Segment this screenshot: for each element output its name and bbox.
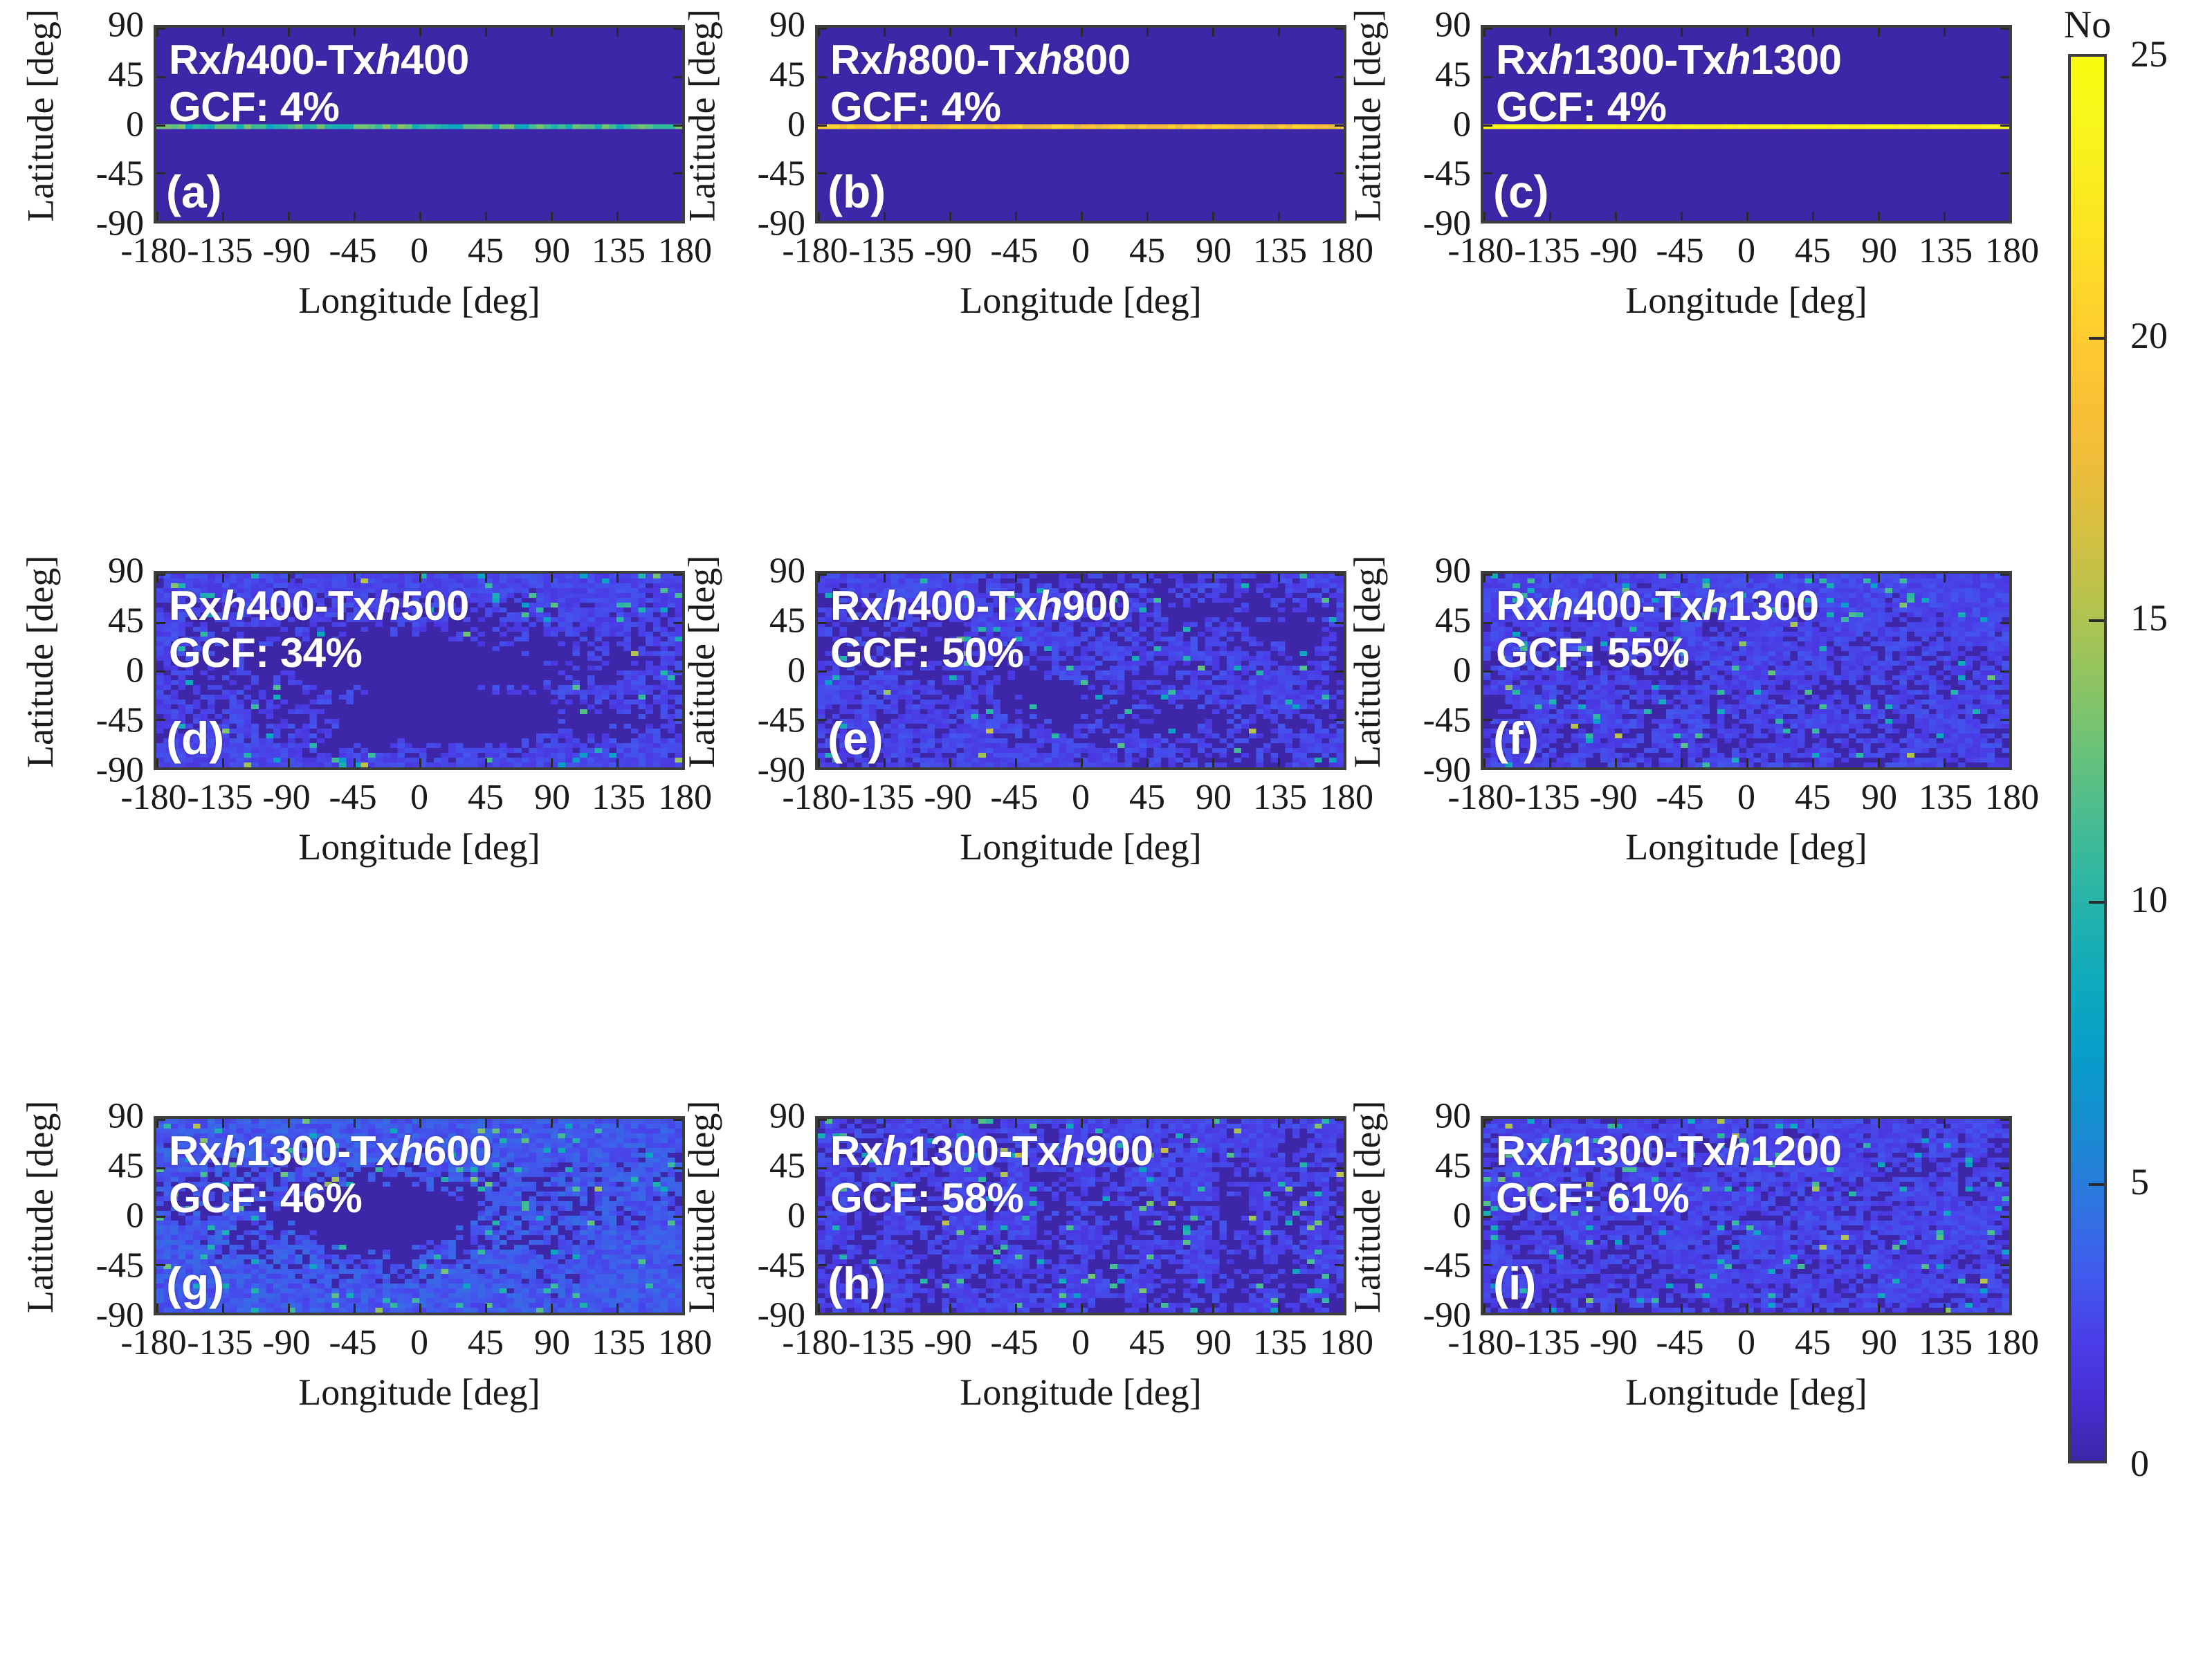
x-tick-mark <box>1278 758 1280 767</box>
y-tick-mark <box>1335 172 1344 174</box>
x-tick-label: 90 <box>1861 777 1897 818</box>
panel-title: Rxh1300-Txh600 <box>169 1127 492 1175</box>
x-tick-label: 0 <box>1072 777 1090 818</box>
panel-title: Rxh400-Txh900 <box>830 582 1131 630</box>
title-mid: 800-Tx <box>908 37 1037 83</box>
x-tick-mark <box>616 574 619 583</box>
gcf-label: GCF: <box>830 84 931 130</box>
y-tick-mark <box>156 1313 165 1315</box>
x-tick-mark <box>1278 1304 1280 1313</box>
panel-i: Rxh1300-Txh1200GCF: 61%(i)-180-135-90-45… <box>1481 1116 2012 1315</box>
x-tick-mark <box>1944 1119 1946 1128</box>
title-suffix: 1200 <box>1750 1128 1841 1174</box>
x-tick-mark <box>1681 758 1683 767</box>
y-tick-label: 0 <box>787 1196 805 1236</box>
title-prefix: Rx <box>1496 37 1548 83</box>
panel-letter: (e) <box>828 712 884 765</box>
panel-letter: (d) <box>166 712 224 765</box>
x-tick-mark <box>2009 1119 2011 1128</box>
x-tick-mark <box>419 1304 421 1313</box>
y-tick-mark <box>1483 28 1492 30</box>
title-h-italic: h <box>1548 583 1573 629</box>
y-tick-mark <box>2000 1313 2009 1315</box>
x-tick-mark <box>818 212 820 221</box>
x-tick-mark <box>1278 574 1280 583</box>
y-tick-label: 45 <box>1435 1146 1471 1187</box>
title-mid: 400-Tx <box>246 37 376 83</box>
title-suffix: 1300 <box>1728 583 1818 629</box>
y-tick-mark <box>1483 622 1492 624</box>
title-h-italic: h <box>221 37 246 83</box>
y-tick-mark <box>1483 221 1492 223</box>
title-h-italic: h <box>376 583 401 629</box>
x-tick-label: -90 <box>262 230 310 271</box>
x-tick-mark <box>1878 212 1880 221</box>
y-tick-label: -90 <box>1423 1295 1471 1336</box>
y-tick-label: -90 <box>96 1295 144 1336</box>
y-tick-mark <box>818 1216 827 1218</box>
x-tick-mark <box>354 758 356 767</box>
title-suffix: 400 <box>401 37 469 83</box>
x-axis-title: Longitude [deg] <box>1481 825 2012 868</box>
y-tick-label: -90 <box>1423 750 1471 791</box>
title-h-italic: h <box>221 1128 246 1174</box>
y-tick-mark <box>2000 670 2009 673</box>
x-axis-title: Longitude [deg] <box>1481 279 2012 322</box>
x-tick-mark <box>156 212 158 221</box>
y-tick-label: 0 <box>787 104 805 145</box>
x-tick-mark <box>1812 1304 1814 1313</box>
panel-b: Rxh800-Txh800GCF: 4%(b)-180-135-90-45045… <box>815 25 1346 223</box>
y-tick-mark <box>1483 1313 1492 1315</box>
gcf-label: GCF: <box>169 1175 269 1221</box>
x-tick-label: -135 <box>848 1322 914 1363</box>
y-tick-mark <box>1335 1119 1344 1121</box>
y-tick-mark <box>156 172 165 174</box>
gcf-label: GCF: <box>1496 84 1596 130</box>
colorbar-tick-label: 5 <box>2130 1160 2149 1203</box>
x-tick-label: -135 <box>187 230 253 271</box>
y-tick-mark <box>1483 1264 1492 1266</box>
y-axis-title: Latitude [deg] <box>680 23 723 221</box>
y-tick-mark <box>156 1264 165 1266</box>
x-axis-title: Longitude [deg] <box>815 1371 1346 1414</box>
y-tick-label: -90 <box>758 203 805 244</box>
y-axis-title: Latitude [deg] <box>1346 569 1389 768</box>
colorbar-tick-mark <box>2089 1183 2104 1186</box>
y-tick-label: -90 <box>758 750 805 791</box>
y-tick-mark <box>818 28 827 30</box>
colorbar-tick-label: 0 <box>2130 1442 2149 1485</box>
x-tick-label: -135 <box>1514 777 1580 818</box>
y-tick-mark <box>156 221 165 223</box>
x-tick-mark <box>1483 758 1486 767</box>
y-tick-mark <box>1483 670 1492 673</box>
y-axis-title: Latitude [deg] <box>19 23 62 221</box>
colorbar-tick-mark <box>2089 619 2104 622</box>
y-tick-label: 90 <box>1435 5 1471 46</box>
y-tick-mark <box>1483 1167 1492 1169</box>
x-axis-title: Longitude [deg] <box>154 1371 685 1414</box>
x-tick-label: 180 <box>1985 777 2039 818</box>
x-tick-label: 90 <box>1196 1322 1232 1363</box>
x-tick-label: -90 <box>1589 777 1637 818</box>
panel-c: Rxh1300-Txh1300GCF: 4%(c)-180-135-90-450… <box>1481 25 2012 223</box>
x-tick-mark <box>1812 212 1814 221</box>
x-tick-mark <box>616 1119 619 1128</box>
y-tick-label: 90 <box>769 5 805 46</box>
x-tick-mark <box>1146 212 1149 221</box>
x-tick-label: -135 <box>187 777 253 818</box>
x-tick-mark <box>1944 1304 1946 1313</box>
x-tick-mark <box>2009 212 2011 221</box>
y-tick-mark <box>156 1216 165 1218</box>
x-tick-mark <box>485 212 487 221</box>
title-h-italic: h <box>376 37 401 83</box>
gcf-annotation: GCF: 4% <box>169 83 340 131</box>
x-tick-label: 90 <box>534 1322 570 1363</box>
y-tick-mark <box>818 1264 827 1266</box>
x-tick-label: 0 <box>1072 230 1090 271</box>
x-tick-mark <box>1081 1304 1083 1313</box>
x-tick-label: 0 <box>1072 1322 1090 1363</box>
y-tick-label: -45 <box>96 154 144 194</box>
y-tick-mark <box>818 1167 827 1169</box>
x-tick-mark <box>2009 28 2011 37</box>
x-tick-label: 90 <box>1861 1322 1897 1363</box>
x-tick-mark <box>1015 1304 1017 1313</box>
y-tick-mark <box>156 1119 165 1121</box>
x-tick-label: 0 <box>410 230 428 271</box>
x-tick-mark <box>616 1304 619 1313</box>
x-tick-mark <box>949 758 951 767</box>
y-tick-label: 0 <box>1453 1196 1471 1236</box>
x-tick-mark <box>1746 212 1748 221</box>
y-tick-label: 45 <box>1435 601 1471 641</box>
x-axis-title: Longitude [deg] <box>154 279 685 322</box>
colorbar-tick-label: 10 <box>2130 878 2168 921</box>
panel-h: Rxh1300-Txh900GCF: 58%(h)-180-135-90-450… <box>815 1116 1346 1315</box>
y-tick-mark <box>2000 719 2009 721</box>
title-mid: 1300-Tx <box>246 1128 399 1174</box>
y-tick-label: -45 <box>96 1245 144 1286</box>
title-suffix: 800 <box>1062 37 1131 83</box>
y-tick-mark <box>818 1119 827 1121</box>
y-tick-mark <box>818 1313 827 1315</box>
x-tick-mark <box>884 758 886 767</box>
x-tick-mark <box>1278 212 1280 221</box>
x-tick-mark <box>288 1304 290 1313</box>
title-prefix: Rx <box>169 1128 221 1174</box>
gcf-value: 4% <box>942 84 1001 130</box>
y-tick-mark <box>2000 221 2009 223</box>
x-tick-label: -45 <box>329 1322 376 1363</box>
y-tick-mark <box>818 767 827 769</box>
x-tick-mark <box>1212 28 1214 37</box>
panel-d: Rxh400-Txh500GCF: 34%(d)-180-135-90-4504… <box>154 571 685 770</box>
title-h-italic: h <box>1703 583 1728 629</box>
panel-letter: (b) <box>828 165 886 218</box>
y-tick-label: 90 <box>1435 1096 1471 1137</box>
y-tick-mark <box>2000 767 2009 769</box>
gcf-annotation: GCF: 58% <box>830 1174 1023 1222</box>
x-tick-label: 135 <box>1919 1322 1973 1363</box>
y-tick-label: 0 <box>1453 650 1471 691</box>
title-prefix: Rx <box>1496 583 1548 629</box>
y-axis-title: Latitude [deg] <box>1346 1114 1389 1313</box>
x-tick-mark <box>1146 28 1149 37</box>
colorbar-tick-mark <box>2089 901 2104 904</box>
y-tick-mark <box>156 574 165 576</box>
title-h-italic: h <box>1548 1128 1573 1174</box>
x-tick-mark <box>156 1304 158 1313</box>
x-tick-mark <box>1878 1304 1880 1313</box>
y-tick-mark <box>1483 76 1492 78</box>
x-tick-label: -90 <box>924 777 971 818</box>
y-tick-mark <box>818 125 827 127</box>
title-suffix: 1300 <box>1750 37 1841 83</box>
y-tick-mark <box>1335 670 1344 673</box>
x-tick-label: 180 <box>1319 230 1373 271</box>
y-tick-mark <box>1483 719 1492 721</box>
x-tick-label: -135 <box>848 230 914 271</box>
gcf-label: GCF: <box>830 1175 931 1221</box>
x-tick-mark <box>616 28 619 37</box>
y-tick-mark <box>156 622 165 624</box>
panel-title: Rxh400-Txh400 <box>169 36 469 84</box>
y-tick-mark <box>818 76 827 78</box>
x-tick-label: -45 <box>990 1322 1038 1363</box>
y-tick-mark <box>818 574 827 576</box>
x-tick-mark <box>156 758 158 767</box>
x-tick-label: -135 <box>187 1322 253 1363</box>
title-suffix: 900 <box>1062 583 1131 629</box>
x-tick-mark <box>1681 1304 1683 1313</box>
x-tick-mark <box>1278 28 1280 37</box>
x-tick-mark <box>419 212 421 221</box>
x-tick-mark <box>1812 758 1814 767</box>
y-axis-title: Latitude [deg] <box>19 569 62 768</box>
title-prefix: Rx <box>830 1128 883 1174</box>
y-tick-label: 45 <box>108 1146 144 1187</box>
y-tick-mark <box>1335 125 1344 127</box>
x-tick-mark <box>551 758 553 767</box>
y-tick-mark <box>1335 622 1344 624</box>
gcf-value: 46% <box>280 1175 363 1221</box>
x-tick-mark <box>1483 212 1486 221</box>
panel-letter: (i) <box>1493 1257 1536 1310</box>
x-tick-label: 0 <box>410 777 428 818</box>
title-h-italic: h <box>1726 1128 1750 1174</box>
x-tick-label: -45 <box>1656 230 1703 271</box>
x-tick-mark <box>354 1304 356 1313</box>
x-tick-mark <box>1015 758 1017 767</box>
gcf-label: GCF: <box>830 630 931 676</box>
y-tick-mark <box>818 670 827 673</box>
y-tick-label: 0 <box>126 650 144 691</box>
x-tick-mark <box>1212 1119 1214 1128</box>
x-tick-mark <box>1878 574 1880 583</box>
y-tick-label: -45 <box>1423 700 1471 741</box>
y-tick-mark <box>1335 1216 1344 1218</box>
x-tick-mark <box>1549 212 1551 221</box>
x-tick-label: 135 <box>1919 777 1973 818</box>
x-tick-mark <box>551 212 553 221</box>
x-tick-mark <box>1615 758 1617 767</box>
y-axis-title: Latitude [deg] <box>680 1114 723 1313</box>
x-tick-mark <box>1615 1304 1617 1313</box>
x-tick-mark <box>1212 758 1214 767</box>
y-tick-mark <box>1483 574 1492 576</box>
x-tick-mark <box>1944 574 1946 583</box>
x-tick-label: -45 <box>329 230 376 271</box>
y-tick-label: 90 <box>769 1096 805 1137</box>
gcf-label: GCF: <box>169 84 269 130</box>
x-tick-label: 45 <box>1795 230 1831 271</box>
title-suffix: 500 <box>401 583 469 629</box>
x-tick-label: 135 <box>1253 1322 1307 1363</box>
x-tick-label: 135 <box>592 230 646 271</box>
panel-title: Rxh1300-Txh1200 <box>1496 1127 1841 1175</box>
y-tick-label: 45 <box>769 601 805 641</box>
y-tick-mark <box>2000 172 2009 174</box>
x-tick-label: 90 <box>534 230 570 271</box>
x-tick-label: -45 <box>1656 1322 1703 1363</box>
x-tick-label: 180 <box>658 777 712 818</box>
y-tick-mark <box>1483 1119 1492 1121</box>
x-tick-label: -135 <box>848 777 914 818</box>
x-tick-label: 135 <box>592 1322 646 1363</box>
x-tick-label: 135 <box>1919 230 1973 271</box>
x-tick-label: -135 <box>1514 230 1580 271</box>
x-tick-mark <box>1944 758 1946 767</box>
x-tick-label: 180 <box>658 1322 712 1363</box>
x-tick-mark <box>551 1304 553 1313</box>
panel-letter: (a) <box>166 165 222 218</box>
y-tick-mark <box>156 767 165 769</box>
x-tick-mark <box>1746 758 1748 767</box>
x-tick-label: -45 <box>990 230 1038 271</box>
x-tick-label: 180 <box>1319 777 1373 818</box>
x-tick-label: -90 <box>1589 1322 1637 1363</box>
panel-letter: (f) <box>1493 712 1539 765</box>
y-tick-mark <box>1335 1313 1344 1315</box>
gcf-value: 4% <box>280 84 340 130</box>
y-tick-label: -45 <box>96 700 144 741</box>
panel-letter: (h) <box>828 1257 886 1310</box>
y-tick-mark <box>2000 28 2009 30</box>
y-tick-mark <box>1483 172 1492 174</box>
x-tick-label: -45 <box>329 777 376 818</box>
x-tick-label: -90 <box>1589 230 1637 271</box>
y-tick-mark <box>2000 1264 2009 1266</box>
title-prefix: Rx <box>830 37 883 83</box>
y-tick-mark <box>1483 125 1492 127</box>
x-tick-mark <box>1549 758 1551 767</box>
title-mid: 1300-Tx <box>1573 1128 1726 1174</box>
title-h-italic: h <box>1726 37 1750 83</box>
y-tick-mark <box>1335 1167 1344 1169</box>
panel-letter: (c) <box>1493 165 1549 218</box>
x-tick-mark <box>1746 1304 1748 1313</box>
y-axis-title: Latitude [deg] <box>680 569 723 768</box>
title-h-italic: h <box>883 583 908 629</box>
y-tick-mark <box>1335 221 1344 223</box>
x-axis-title: Longitude [deg] <box>815 279 1346 322</box>
title-h-italic: h <box>221 583 246 629</box>
gcf-label: GCF: <box>1496 630 1596 676</box>
x-tick-label: 45 <box>1129 777 1165 818</box>
gcf-value: 34% <box>280 630 363 676</box>
x-tick-mark <box>616 758 619 767</box>
gcf-annotation: GCF: 4% <box>1496 83 1667 131</box>
gcf-label: GCF: <box>1496 1175 1596 1221</box>
y-tick-label: -90 <box>1423 203 1471 244</box>
y-tick-mark <box>1335 1264 1344 1266</box>
x-tick-mark <box>1212 1304 1214 1313</box>
gcf-annotation: GCF: 4% <box>830 83 1001 131</box>
x-tick-mark <box>2009 1304 2011 1313</box>
x-tick-mark <box>485 574 487 583</box>
x-tick-mark <box>949 1304 951 1313</box>
x-tick-label: -45 <box>1656 777 1703 818</box>
x-tick-mark <box>1944 212 1946 221</box>
y-tick-mark <box>2000 1167 2009 1169</box>
gcf-value: 58% <box>942 1175 1024 1221</box>
gcf-label: GCF: <box>169 630 269 676</box>
y-tick-label: 0 <box>787 650 805 691</box>
x-tick-mark <box>1483 1304 1486 1313</box>
title-h-italic: h <box>1548 37 1573 83</box>
x-tick-label: 0 <box>1737 230 1755 271</box>
gcf-value: 4% <box>1607 84 1667 130</box>
gcf-annotation: GCF: 61% <box>1496 1174 1689 1222</box>
x-tick-label: 135 <box>1253 230 1307 271</box>
y-tick-label: 90 <box>1435 551 1471 592</box>
panel-title: Rxh400-Txh500 <box>169 582 469 630</box>
y-axis-title: Latitude [deg] <box>1346 23 1389 221</box>
y-tick-mark <box>1335 719 1344 721</box>
panel-f: Rxh400-Txh1300GCF: 55%(f)-180-135-90-450… <box>1481 571 2012 770</box>
y-tick-label: 45 <box>769 54 805 95</box>
x-tick-mark <box>1081 212 1083 221</box>
x-tick-mark <box>1878 28 1880 37</box>
y-tick-mark <box>2000 574 2009 576</box>
gcf-value: 50% <box>942 630 1024 676</box>
y-tick-label: -90 <box>758 1295 805 1336</box>
y-tick-mark <box>2000 622 2009 624</box>
x-tick-label: 45 <box>1795 777 1831 818</box>
title-mid: 1300-Tx <box>908 1128 1060 1174</box>
x-tick-label: 90 <box>1196 230 1232 271</box>
x-tick-mark <box>1146 1304 1149 1313</box>
x-tick-label: -90 <box>924 230 971 271</box>
x-tick-mark <box>288 212 290 221</box>
x-tick-label: 45 <box>468 1322 504 1363</box>
title-h-italic: h <box>399 1128 423 1174</box>
x-tick-mark <box>1878 758 1880 767</box>
x-tick-label: 135 <box>592 777 646 818</box>
panel-title: Rxh400-Txh1300 <box>1496 582 1819 630</box>
panel-title: Rxh1300-Txh1300 <box>1496 36 1841 84</box>
gcf-annotation: GCF: 50% <box>830 629 1023 677</box>
x-tick-label: -90 <box>262 777 310 818</box>
y-tick-mark <box>818 221 827 223</box>
y-tick-label: 45 <box>769 1146 805 1187</box>
figure-root: Rxh400-Txh400GCF: 4%(a)-180-135-90-45045… <box>0 0 2203 1680</box>
x-tick-mark <box>551 574 553 583</box>
x-tick-mark <box>949 212 951 221</box>
